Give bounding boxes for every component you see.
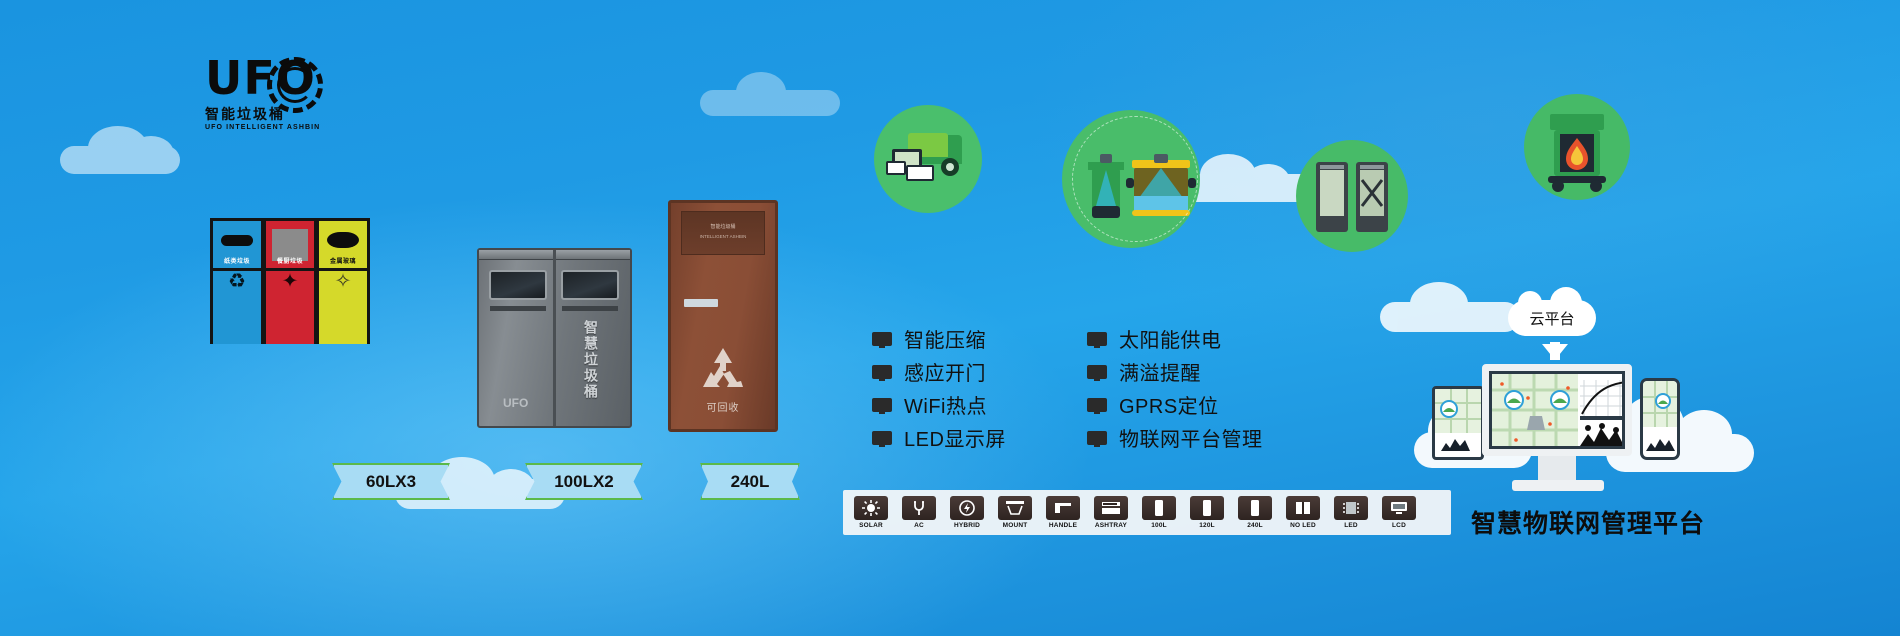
cloud-platform-label: 云平台 [1529,308,1574,329]
illustration-fire-alarm [1524,94,1630,200]
spec-caption: HANDLE [1049,522,1077,529]
spec-icon-240l: 240L [1233,496,1277,529]
wall-mount-icon [998,496,1032,520]
feature-label: 智能压缩 [904,324,986,353]
spec-icon-no-led: NO LED [1281,496,1325,529]
spec-icon-ashtray: ASHTRAY [1089,496,1133,529]
hybrid-power-icon [950,496,984,520]
bin-card-reader [684,299,718,307]
feature-label: 感应开门 [904,357,986,386]
spec-caption: AC [914,522,924,529]
feature-label: 物联网平台管理 [1119,423,1263,452]
spec-caption: 100L [1151,522,1167,529]
capacity-ribbon-60lx3: 60LX3 [332,463,450,500]
bin-top-screen: 智能垃圾桶 INTELLIGENT ASHBIN [681,211,765,255]
bin-panel-metal-glass: 金属玻璃 ✧ [316,218,370,344]
bin-vertical-text: 智慧垃圾桶 [583,320,601,400]
cloud-platform-tag: 云平台 [1508,300,1596,336]
bin-window-left [489,270,547,300]
bin-label-kitchen: 餐厨垃圾 [266,256,314,265]
spec-icon-120l: 120L [1185,496,1229,529]
bin-screen-line1: 智能垃圾桶 [682,223,764,230]
no-led-icon [1286,496,1320,520]
spec-icon-hybrid: HYBRID [945,496,989,529]
spec-caption: 240L [1247,522,1263,529]
bin-label-paper: 纸类垃圾 [213,256,261,265]
paper-graphic-icon: ♻ [228,269,246,294]
logo-inner-ring-icon [277,67,313,103]
capacity-120l-icon [1190,496,1224,520]
feature-label: 太阳能供电 [1119,324,1222,353]
device-tablet [1432,386,1484,460]
feature-label: GPRS定位 [1119,390,1219,419]
metal-glass-graphic-icon: ✧ [335,269,352,294]
monitor-icon [1087,398,1107,412]
download-arrow-icon [1542,344,1568,360]
spec-icon-ac: AC [897,496,941,529]
sensor-link-dashed-circle [1072,116,1198,242]
spec-caption: 120L [1199,522,1215,529]
feature-list-left: 智能压缩 感应开门 WiFi热点 LED显示屏 [872,322,1006,454]
capacity-240l-icon [1238,496,1272,520]
feature-label: WiFi热点 [904,390,987,419]
brand-logo: UFO 智能垃圾桶 UFO INTELLIGENT ASHBIN [205,55,325,160]
monitor-icon [872,332,892,346]
monitor-stand [1538,456,1576,482]
ac-plug-icon [902,496,936,520]
device-smartphone [1640,378,1680,460]
lcd-display-icon [1382,496,1416,520]
capacity-ribbon-240l: 240L [700,463,800,500]
product-brown-bin: 智能垃圾桶 INTELLIGENT ASHBIN 可回收 [668,200,778,432]
monitor-icon [1087,365,1107,379]
led-display-icon [1334,496,1368,520]
spec-caption: NO LED [1290,522,1316,529]
capacity-100l-icon [1142,496,1176,520]
feature-item: 智能压缩 [872,322,1006,355]
spec-icon-strip: SOLAR AC HYBRID MOUNT HANDLE ASHTRAY 100… [843,490,1451,535]
capacity-ribbon-100lx2: 100LX2 [525,463,643,500]
spec-icon-lcd: LCD [1377,496,1421,529]
platform-title: 智慧物联网管理平台 [1438,504,1738,540]
metal-glass-slot-icon [327,232,359,248]
banner-canvas: UFO 智能垃圾桶 UFO INTELLIGENT ASHBIN 纸类垃圾 ♻ … [0,0,1900,636]
product-three-colour-bin: 纸类垃圾 ♻ 餐厨垃圾 ✦ 金属玻璃 ✧ [210,218,370,344]
monitor-icon [1087,431,1107,445]
bin-screen-line2: INTELLIGENT ASHBIN [682,234,764,239]
feature-item: 感应开门 [872,355,1006,388]
spec-caption: LED [1344,522,1358,529]
monitor-screen [1489,371,1625,449]
illustration-collection-truck [874,105,982,213]
monitor-icon [872,365,892,379]
spec-icon-mount: MOUNT [993,496,1037,529]
device-desktop-monitor [1482,364,1632,456]
bin-strip-left [490,306,546,311]
illustration-twin-bins [1296,140,1408,252]
spec-icon-handle: HANDLE [1041,496,1085,529]
spec-caption: LCD [1392,522,1406,529]
product-twin-grey-bin: 智慧垃圾桶 UFO [477,248,632,428]
spec-caption: ASHTRAY [1095,522,1127,529]
solar-panel-icon [854,496,888,520]
bin-panel-kitchen: 餐厨垃圾 ✦ [263,218,316,344]
recycle-symbol-icon [697,345,749,400]
bin-center-divider [553,250,556,426]
spec-caption: HYBRID [954,522,980,529]
feature-label: 满溢提醒 [1119,357,1201,386]
feature-item: 太阳能供电 [1087,322,1263,355]
feature-list-right: 太阳能供电 满溢提醒 GPRS定位 物联网平台管理 [1087,322,1263,454]
feature-item: 满溢提醒 [1087,355,1263,388]
logo-english-name: UFO INTELLIGENT ASHBIN [205,124,325,131]
bin-brand-mark: UFO [503,396,528,410]
bin-label-metal-glass: 金属玻璃 [319,256,367,265]
ashtray-icon [1094,496,1128,520]
spec-caption: MOUNT [1003,522,1028,529]
bin-recycle-label: 可回收 [671,399,775,414]
paper-slot-icon [221,235,253,246]
bin-window-right [561,270,619,300]
monitor-icon [872,431,892,445]
cloud-decoration [700,70,860,120]
feature-item: GPRS定位 [1087,388,1263,421]
spec-caption: SOLAR [859,522,883,529]
monitor-icon [872,398,892,412]
spec-icon-solar: SOLAR [849,496,893,529]
bin-strip-right [562,306,618,311]
spec-icon-100l: 100L [1137,496,1181,529]
feature-item: WiFi热点 [872,388,1006,421]
monitor-icon [1087,332,1107,346]
feature-label: LED显示屏 [904,423,1006,452]
feature-item: 物联网平台管理 [1087,421,1263,454]
bin-panel-paper: 纸类垃圾 ♻ [210,218,263,344]
feature-item: LED显示屏 [872,421,1006,454]
kitchen-graphic-icon: ✦ [282,269,299,294]
handle-icon [1046,496,1080,520]
monitor-base [1512,480,1604,491]
spec-icon-led: LED [1329,496,1373,529]
